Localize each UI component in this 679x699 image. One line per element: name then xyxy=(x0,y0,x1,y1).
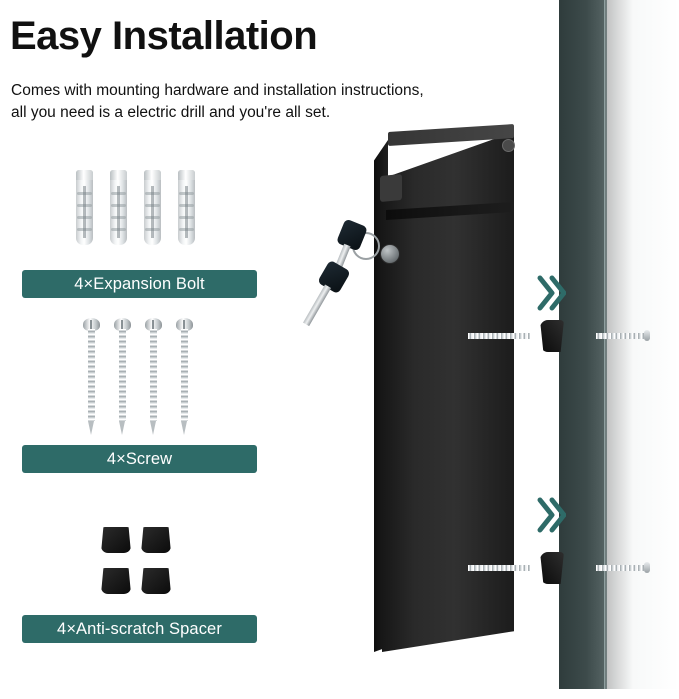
mailbox-product xyxy=(374,132,514,652)
screw-icon-2 xyxy=(116,318,129,436)
mounted-spacer-upper xyxy=(540,320,564,352)
expansion-bolt-icon-3 xyxy=(144,170,161,245)
mailbox-slot-lip xyxy=(380,174,402,202)
chevron-right-icon-lower xyxy=(536,494,566,536)
anti-scratch-spacer-icon-4 xyxy=(141,568,171,594)
label-screw: 4×Screw xyxy=(22,445,257,473)
installation-infographic: Easy Installation Comes with mounting ha… xyxy=(0,0,679,699)
screw-icon-3 xyxy=(147,318,160,436)
expansion-bolt-icon-4 xyxy=(178,170,195,245)
mounting-screw-lower-left xyxy=(468,562,530,573)
mailbox-keys xyxy=(322,222,392,332)
screw-icon-4 xyxy=(178,318,191,436)
mounting-screw-upper-right xyxy=(596,330,650,341)
key-icon-2 xyxy=(317,260,351,295)
label-anti-scratch-spacer: 4×Anti-scratch Spacer xyxy=(22,615,257,643)
anti-scratch-spacer-icon-2 xyxy=(141,527,171,553)
mailbox-hinge-icon xyxy=(502,139,515,152)
screw-icon-1 xyxy=(85,318,98,436)
anti-scratch-spacer-icon-1 xyxy=(101,527,131,553)
chevron-right-icon-upper xyxy=(536,272,566,314)
mounting-screw-upper-left xyxy=(468,330,530,341)
expansion-bolt-icon-2 xyxy=(110,170,127,245)
wall-dark-panel xyxy=(559,0,605,699)
page-title: Easy Installation xyxy=(10,14,317,58)
bottom-spacer xyxy=(0,689,679,699)
label-expansion-bolt: 4×Expansion Bolt xyxy=(22,270,257,298)
page-subtitle: Comes with mounting hardware and install… xyxy=(11,80,424,124)
expansion-bolt-icon-1 xyxy=(76,170,93,245)
wall-shadow xyxy=(605,0,633,699)
anti-scratch-spacer-icon-3 xyxy=(101,568,131,594)
mounting-screw-lower-right xyxy=(596,562,650,573)
mounted-spacer-lower xyxy=(540,552,564,584)
